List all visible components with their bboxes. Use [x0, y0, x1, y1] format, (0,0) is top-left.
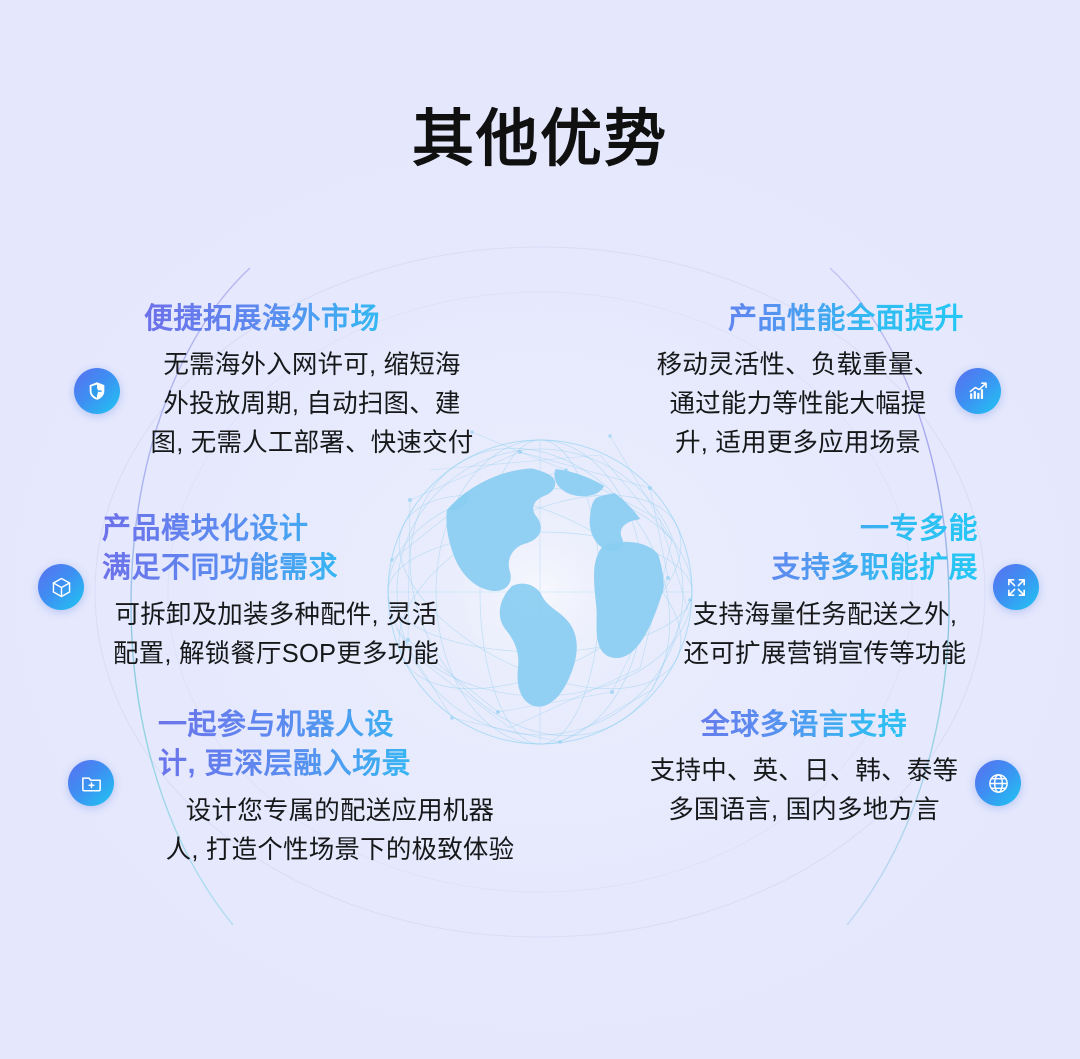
- feature-body: 支持中、英、日、韩、泰等 多国语言, 国内多地方言: [634, 752, 974, 830]
- feature-body: 支持海量任务配送之外, 还可扩展营销宣传等功能: [660, 596, 990, 674]
- feature-body: 无需海外入网许可, 缩短海 外投放周期, 自动扫图、建 图, 无需人工部署、快速…: [136, 346, 488, 462]
- expand-arrows-icon: [1005, 576, 1028, 599]
- folder-plus-icon: [80, 772, 103, 795]
- page-title: 其他优势: [0, 104, 1080, 175]
- feature-multi-function: 一专多能 支持多职能扩展 支持海量任务配送之外, 还可扩展营销宣传等功能: [660, 510, 990, 673]
- advantages-infographic: 其他优势: [0, 0, 1080, 1059]
- feature-heading: 一专多能 支持多职能扩展: [660, 510, 990, 589]
- feature-co-design: 一起参与机器人设 计, 更深层融入场景 设计您专属的配送应用机器 人, 打造个性…: [130, 706, 550, 869]
- feature-heading: 产品性能全面提升: [622, 300, 974, 339]
- badge-shield[interactable]: [74, 368, 120, 414]
- feature-body: 设计您专属的配送应用机器 人, 打造个性场景下的极致体验: [130, 792, 550, 870]
- badge-globe[interactable]: [975, 760, 1021, 806]
- feature-product-performance: 产品性能全面提升 移动灵活性、负载重量、 通过能力等性能大幅提 升, 适用更多应…: [622, 300, 974, 463]
- badge-folder-plus[interactable]: [68, 760, 114, 806]
- feature-heading: 便捷拓展海外市场: [136, 300, 488, 339]
- feature-body: 可拆卸及加装多种配件, 灵活 配置, 解锁餐厅SOP更多功能: [92, 596, 460, 674]
- shield-icon: [86, 380, 108, 402]
- feature-modular-design: 产品模块化设计 满足不同功能需求 可拆卸及加装多种配件, 灵活 配置, 解锁餐厅…: [92, 510, 460, 673]
- feature-heading: 一起参与机器人设 计, 更深层融入场景: [130, 706, 550, 785]
- badge-expand-arrows[interactable]: [993, 564, 1039, 610]
- feature-heading: 产品模块化设计 满足不同功能需求: [92, 510, 460, 589]
- badge-cube[interactable]: [38, 564, 84, 610]
- feature-body: 移动灵活性、负载重量、 通过能力等性能大幅提 升, 适用更多应用场景: [622, 346, 974, 462]
- globe-icon: [987, 772, 1010, 795]
- cube-icon: [50, 576, 73, 599]
- feature-multi-language: 全球多语言支持 支持中、英、日、韩、泰等 多国语言, 国内多地方言: [634, 706, 974, 830]
- feature-heading: 全球多语言支持: [634, 706, 974, 745]
- feature-overseas-market: 便捷拓展海外市场 无需海外入网许可, 缩短海 外投放周期, 自动扫图、建 图, …: [136, 300, 488, 463]
